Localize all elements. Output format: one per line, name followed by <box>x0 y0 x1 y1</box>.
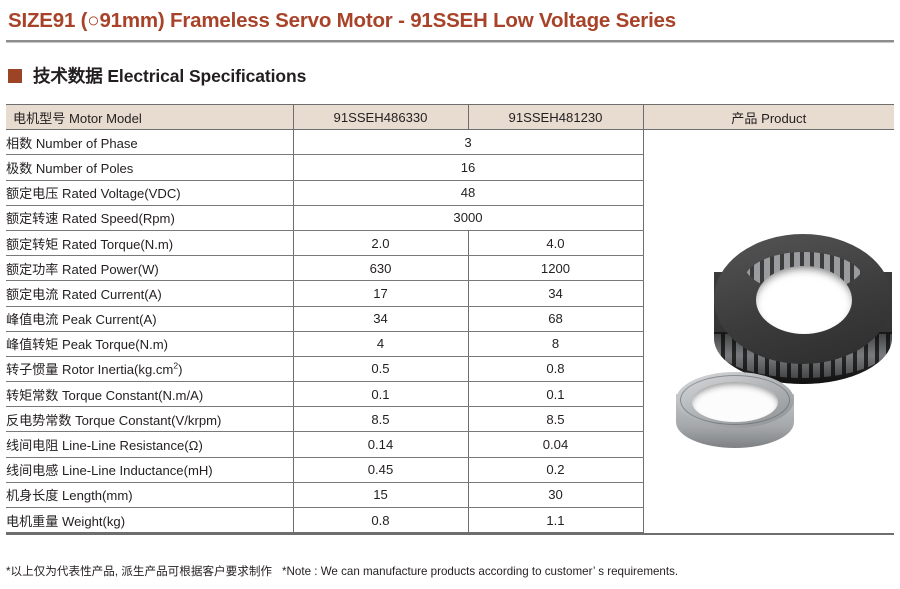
table-row: 峰值转矩 Peak Torque(N.m)48 <box>6 331 894 356</box>
row-label: 转矩常数 Torque Constant(N.m/A) <box>6 382 293 407</box>
table-row: 电机重量 Weight(kg)0.81.1 <box>6 508 894 533</box>
row-value-model-a: 0.14 <box>293 432 468 457</box>
product-column-cell <box>643 281 894 306</box>
product-column-cell <box>643 306 894 331</box>
row-value-model-b: 0.04 <box>468 432 643 457</box>
row-value-model-a: 34 <box>293 306 468 331</box>
row-value-merged: 48 <box>293 180 643 205</box>
row-label: 相数 Number of Phase <box>6 130 293 155</box>
footnote-chinese: *以上仅为代表性产品, 派生产品可根据客户要求制作 <box>6 565 272 578</box>
page-title-text: SIZE91 (○91mm) Frameless Servo Motor - 9… <box>0 0 900 33</box>
row-value-model-a: 0.45 <box>293 457 468 482</box>
product-column-cell <box>643 205 894 230</box>
row-value-model-a: 0.8 <box>293 508 468 533</box>
product-column-cell <box>643 432 894 457</box>
table-row: 峰值电流 Peak Current(A)3468 <box>6 306 894 331</box>
table-row: 相数 Number of Phase3 <box>6 130 894 155</box>
row-value-merged: 3 <box>293 130 643 155</box>
row-value-model-a: 17 <box>293 281 468 306</box>
row-value-model-a: 0.5 <box>293 356 468 381</box>
specifications-table-wrapper: 电机型号 Motor Model 91SSEH486330 91SSEH4812… <box>6 104 894 533</box>
table-body: 相数 Number of Phase3极数 Number of Poles16额… <box>6 130 894 533</box>
row-value-model-b: 1.1 <box>468 508 643 533</box>
row-value-model-b: 34 <box>468 281 643 306</box>
row-label: 额定电压 Rated Voltage(VDC) <box>6 180 293 205</box>
row-value-model-b: 30 <box>468 482 643 507</box>
row-value-model-a: 630 <box>293 256 468 281</box>
product-column-cell <box>643 407 894 432</box>
product-column-cell <box>643 180 894 205</box>
column-header-model-b: 91SSEH481230 <box>468 105 643 130</box>
product-column-cell <box>643 230 894 255</box>
row-value-model-b: 4.0 <box>468 230 643 255</box>
section-header: 技术数据 Electrical Specifications <box>0 43 900 88</box>
table-row: 极数 Number of Poles16 <box>6 155 894 180</box>
row-label: 电机重量 Weight(kg) <box>6 508 293 533</box>
row-label: 额定电流 Rated Current(A) <box>6 281 293 306</box>
row-label: 线间电感 Line-Line Inductance(mH) <box>6 457 293 482</box>
row-value-model-b: 8.5 <box>468 407 643 432</box>
table-row: 额定转矩 Rated Torque(N.m)2.04.0 <box>6 230 894 255</box>
row-value-model-b: 68 <box>468 306 643 331</box>
row-value-model-a: 8.5 <box>293 407 468 432</box>
table-row: 转子惯量 Rotor Inertia(kg.cm2)0.50.8 <box>6 356 894 381</box>
square-bullet-icon <box>8 69 22 83</box>
footnote-english: *Note : We can manufacture products acco… <box>282 565 678 578</box>
product-column-cell <box>643 356 894 381</box>
product-column-cell <box>643 331 894 356</box>
table-row: 额定电流 Rated Current(A)1734 <box>6 281 894 306</box>
row-value-model-b: 8 <box>468 331 643 356</box>
superscript: 2 <box>173 361 178 371</box>
product-column-cell <box>643 256 894 281</box>
row-value-merged: 3000 <box>293 205 643 230</box>
row-value-model-a: 0.1 <box>293 382 468 407</box>
section-header-label: 技术数据 Electrical Specifications <box>33 63 306 88</box>
table-header-row: 电机型号 Motor Model 91SSEH486330 91SSEH4812… <box>6 105 894 130</box>
row-label: 反电势常数 Torque Constant(V/krpm) <box>6 407 293 432</box>
row-label: 额定转速 Rated Speed(Rpm) <box>6 205 293 230</box>
product-column-cell <box>643 457 894 482</box>
table-bottom-rule <box>6 533 894 534</box>
product-column-cell <box>643 482 894 507</box>
column-header-motor-model: 电机型号 Motor Model <box>6 105 293 130</box>
row-value-merged: 16 <box>293 155 643 180</box>
row-label: 峰值转矩 Peak Torque(N.m) <box>6 331 293 356</box>
table-row: 额定转速 Rated Speed(Rpm)3000 <box>6 205 894 230</box>
product-column-cell <box>643 155 894 180</box>
row-value-model-b: 0.8 <box>468 356 643 381</box>
table-row: 额定功率 Rated Power(W)6301200 <box>6 256 894 281</box>
table-row: 线间电阻 Line-Line Resistance(Ω)0.140.04 <box>6 432 894 457</box>
column-header-model-a: 91SSEH486330 <box>293 105 468 130</box>
row-label: 线间电阻 Line-Line Resistance(Ω) <box>6 432 293 457</box>
table-row: 额定电压 Rated Voltage(VDC)48 <box>6 180 894 205</box>
row-value-model-b: 0.2 <box>468 457 643 482</box>
column-header-product: 产品 Product <box>643 105 894 130</box>
row-value-model-b: 0.1 <box>468 382 643 407</box>
row-value-model-a: 15 <box>293 482 468 507</box>
product-column-cell <box>643 130 894 155</box>
row-label: 转子惯量 Rotor Inertia(kg.cm2) <box>6 356 293 381</box>
table-row: 反电势常数 Torque Constant(V/krpm)8.58.5 <box>6 407 894 432</box>
table-row: 转矩常数 Torque Constant(N.m/A)0.10.1 <box>6 382 894 407</box>
row-value-model-b: 1200 <box>468 256 643 281</box>
specifications-table: 电机型号 Motor Model 91SSEH486330 91SSEH4812… <box>6 104 894 533</box>
page-title: SIZE91 (○91mm) Frameless Servo Motor - 9… <box>0 0 900 33</box>
footnote: *以上仅为代表性产品, 派生产品可根据客户要求制作*Note : We can … <box>6 563 678 579</box>
row-label: 峰值电流 Peak Current(A) <box>6 306 293 331</box>
table-row: 机身长度 Length(mm)1530 <box>6 482 894 507</box>
row-label: 额定功率 Rated Power(W) <box>6 256 293 281</box>
row-label: 极数 Number of Poles <box>6 155 293 180</box>
row-label: 机身长度 Length(mm) <box>6 482 293 507</box>
table-row: 线间电感 Line-Line Inductance(mH)0.450.2 <box>6 457 894 482</box>
product-column-cell <box>643 508 894 533</box>
row-value-model-a: 4 <box>293 331 468 356</box>
row-label: 额定转矩 Rated Torque(N.m) <box>6 230 293 255</box>
row-value-model-a: 2.0 <box>293 230 468 255</box>
product-column-cell <box>643 382 894 407</box>
